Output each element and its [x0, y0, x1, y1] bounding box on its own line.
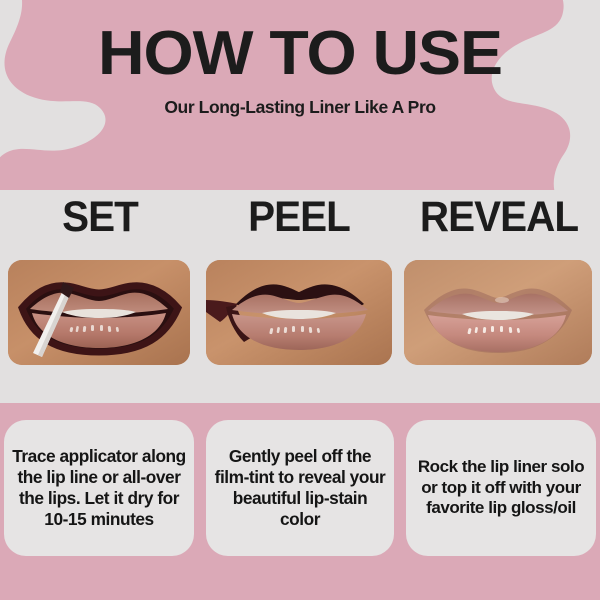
step-heading-peel: PEEL — [212, 196, 387, 239]
caption-text-peel: Gently peel off the film-tint to reveal … — [214, 446, 386, 530]
step-image-peel — [206, 260, 392, 365]
step-heading-set: SET — [15, 196, 184, 239]
step-image-reveal — [404, 260, 592, 365]
step-heading-reveal: REVEAL — [410, 196, 589, 239]
step-image-set — [8, 260, 190, 365]
step-caption-card-set: Trace applicator along the lip line or a… — [4, 420, 194, 556]
step-caption-card-peel: Gently peel off the film-tint to reveal … — [206, 420, 394, 556]
step-caption-card-reveal: Rock the lip liner solo or top it off wi… — [406, 420, 596, 556]
page-title: HOW TO USE — [0, 23, 600, 85]
caption-text-set: Trace applicator along the lip line or a… — [12, 446, 186, 530]
header-band: HOW TO USE Our Long-Lasting Liner Like A… — [0, 0, 600, 190]
page-subtitle: Our Long-Lasting Liner Like A Pro — [0, 97, 600, 118]
how-to-use-infographic: HOW TO USE Our Long-Lasting Liner Like A… — [0, 0, 600, 600]
caption-text-reveal: Rock the lip liner solo or top it off wi… — [414, 457, 588, 519]
